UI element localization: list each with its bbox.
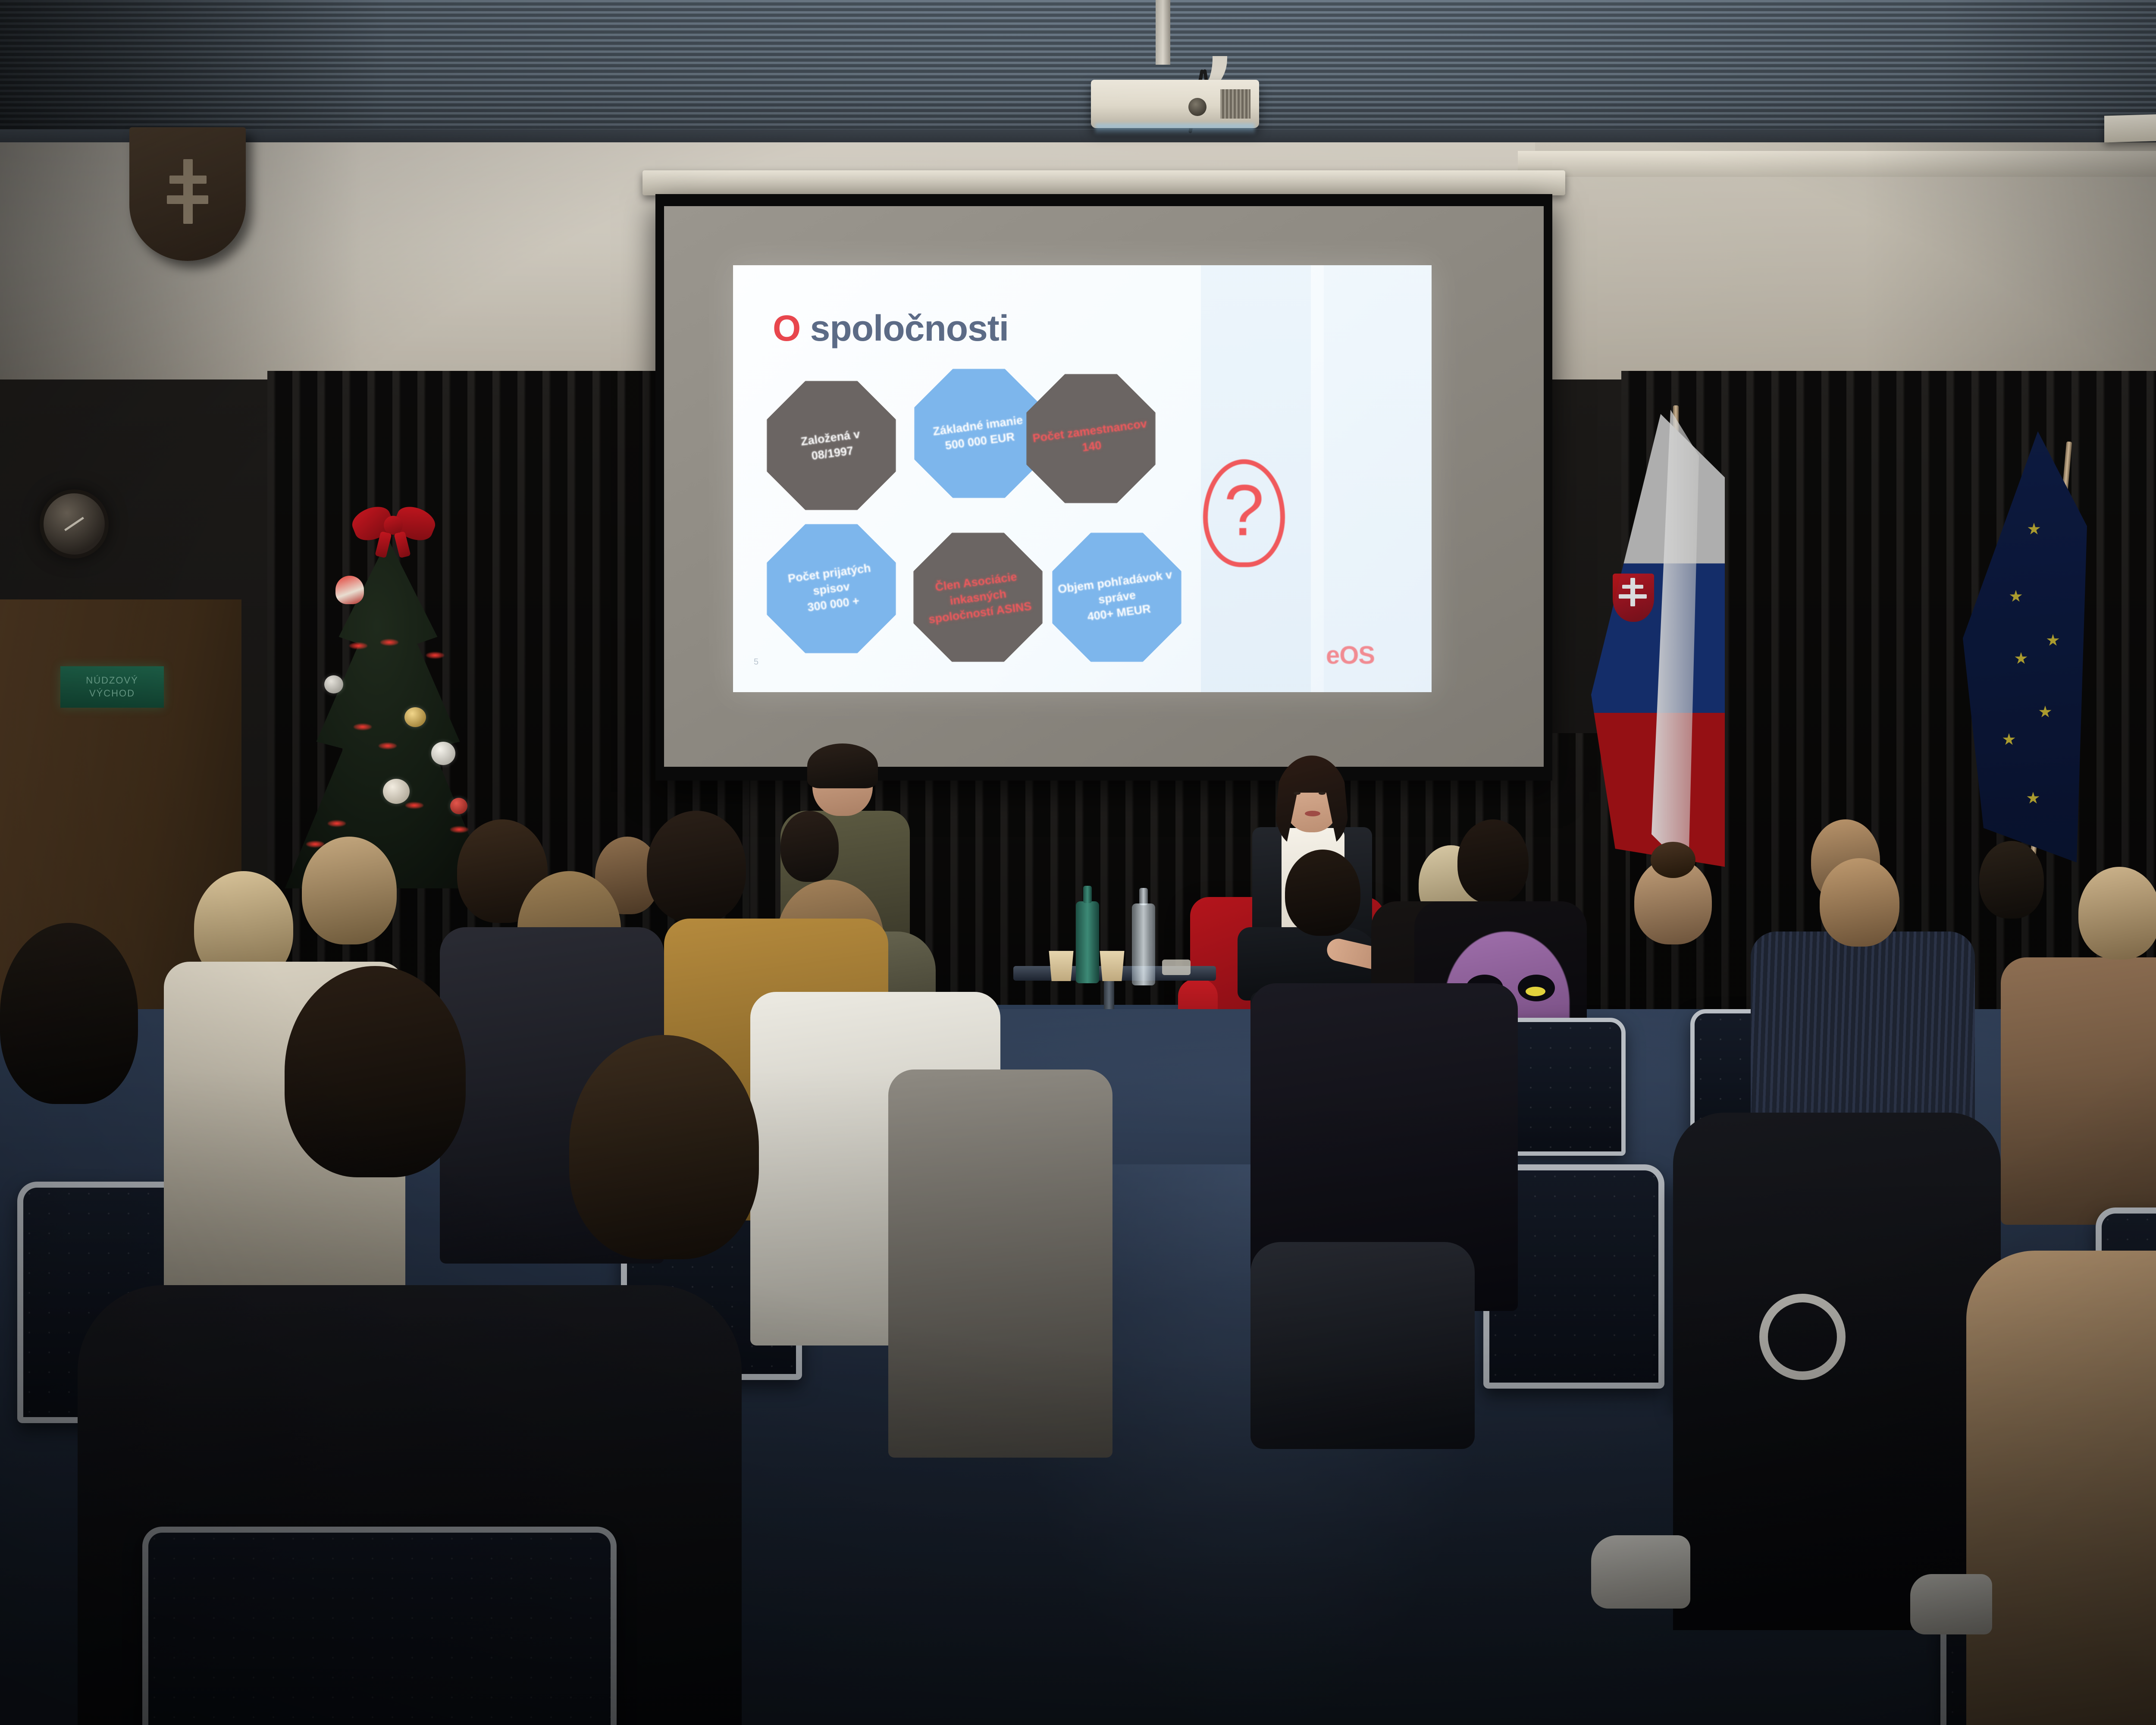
wall-clock: [40, 489, 109, 558]
slide-octagon-founded-text: Založená v08/1997: [796, 426, 866, 465]
slide-octagon-employees: Počet zamestnancov140: [1026, 374, 1156, 503]
projector-mount-pole: [1156, 0, 1170, 65]
chair: [142, 1527, 617, 1725]
slide-octagon-cases: Počet prijatých spisov300 000 +: [767, 524, 896, 653]
bauble-gold: [404, 707, 426, 727]
audience-head: [2078, 867, 2156, 960]
slide-octagon-capital-text: Základné imanie500 000 EUR: [928, 411, 1029, 455]
slide-octagon-cases-text: Počet prijatých spisov300 000 +: [764, 557, 899, 621]
santa-ornament: [335, 576, 364, 604]
screen-roller-housing: [642, 170, 1565, 195]
audience-head-foreground: [569, 1035, 759, 1259]
white-sneaker: [1591, 1535, 1690, 1609]
slide-octagon-founded: Založená v08/1997: [767, 381, 896, 510]
auditorium-photo: NÚDZOVÝ VÝCHOD O spoločnosti Založená v0…: [0, 0, 2156, 1725]
ceiling-projector: [1091, 80, 1259, 128]
presentation-slide: O spoločnosti Založená v08/1997 Základné…: [733, 265, 1432, 692]
paper-cup-2: [1099, 951, 1125, 981]
slide-octagon-portfolio: Objem pohľadávok vspráve400+ MEUR: [1052, 533, 1181, 662]
audience-puffer-jacket: [1673, 1113, 2001, 1630]
green-glass-bottle: [1076, 901, 1099, 983]
slide-octagon-association: Člen Asociácieinkasnýchspoločností ASINS: [913, 533, 1043, 662]
slide-octagon-portfolio-text: Objem pohľadávok vspráve400+ MEUR: [1053, 566, 1181, 629]
slovak-coat-of-arms-plaque: [129, 127, 246, 261]
audience-head: [1285, 850, 1360, 936]
emergency-exit-sign: NÚDZOVÝ VÝCHOD: [60, 666, 164, 708]
slide-octagon-employees-text: Počet zamestnancov140: [1028, 415, 1153, 462]
audience-head-foreground: [0, 923, 138, 1104]
christmas-tree: [276, 500, 500, 888]
presenter-eye-right: [1319, 792, 1326, 795]
slovak-flag-coat-of-arms: [1613, 574, 1654, 622]
exit-sign-line-2: VÝCHOD: [89, 688, 135, 699]
backpack: [1250, 1242, 1475, 1449]
exit-sign-line-1: NÚDZOVÝ: [86, 675, 138, 686]
slide-title-text: spoločnosti: [800, 308, 1009, 348]
skull-pupil-right: [1526, 987, 1545, 996]
audience-head: [302, 837, 397, 944]
white-sneaker: [1910, 1574, 1992, 1634]
slide-page-number: 5: [754, 657, 758, 667]
audience-torso: [888, 1069, 1112, 1458]
audience-head: [1457, 819, 1529, 903]
audience-head: [647, 811, 746, 923]
presenter-eye-left: [1294, 792, 1300, 795]
projector-vent: [1220, 89, 1250, 119]
slide-band-2: [1324, 265, 1432, 692]
audience-head: [1979, 841, 2044, 919]
moderator-hair: [807, 743, 878, 788]
bauble-white: [431, 742, 455, 765]
bauble-red: [450, 798, 467, 814]
audience-torso: [2001, 957, 2156, 1225]
puffer-circle-logo: [1759, 1294, 1846, 1380]
projector-light-glow: [1095, 124, 1255, 135]
slide-octagon-association-text: Člen Asociácieinkasnýchspoločností ASINS: [920, 567, 1036, 627]
audience-torso: [1966, 1251, 2156, 1725]
double-cross-icon: [167, 159, 208, 224]
eos-logo: eOS: [1326, 641, 1375, 670]
paper-cup-1: [1048, 951, 1075, 981]
audience-head: [780, 811, 839, 882]
slide-title-accent: O: [773, 308, 800, 348]
bauble-silver: [324, 675, 343, 693]
projector-lens-icon: [1188, 98, 1206, 116]
audience-head-foreground: [285, 966, 466, 1177]
table-microphone: [1162, 960, 1191, 975]
audience-head: [1820, 858, 1899, 947]
christmas-tree-foliage: [276, 539, 500, 888]
christmas-tree-bow-topper: [353, 500, 435, 552]
ceiling-shadow-left: [0, 0, 388, 142]
clear-water-bottle: [1132, 903, 1155, 985]
slide-octagon-capital: Základné imanie500 000 EUR: [914, 369, 1044, 498]
bauble-cream: [383, 779, 410, 804]
slide-title: O spoločnosti: [773, 307, 1009, 349]
presenter-lips: [1305, 811, 1320, 816]
hair-bun: [1651, 842, 1695, 878]
